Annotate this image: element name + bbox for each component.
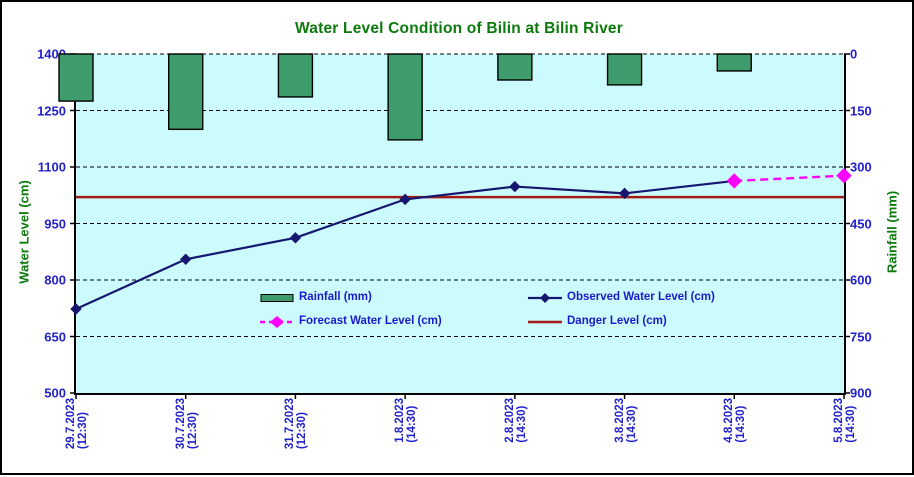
x-tick-time: (14:30) [735, 398, 747, 443]
y-axis-left-ticks: 140012501100950800650500 [2, 2, 66, 477]
x-tick-time: (14:30) [626, 398, 638, 443]
rainfall-bar-0[interactable] [59, 54, 93, 101]
observed-to-forecast-connector [625, 181, 735, 193]
x-tick-time: (12:30) [77, 398, 89, 449]
x-tick-time: (12:30) [296, 398, 308, 449]
observed-point-1[interactable] [181, 254, 191, 264]
rainfall-bar-4[interactable] [498, 54, 532, 80]
observed-point-0[interactable] [71, 304, 81, 314]
rainfall-bar-2[interactable] [278, 54, 312, 97]
y-tick-left-1100: 1100 [38, 160, 66, 175]
forecast-point-0[interactable] [727, 174, 741, 188]
x-tick-time: (14:30) [845, 398, 857, 443]
y-tick-right-300: 300 [850, 160, 872, 175]
x-tick-date: 29.7.2023 [65, 398, 77, 449]
y-tick-left-950: 950 [44, 216, 66, 231]
y-tick-left-800: 800 [44, 273, 66, 288]
x-tick-label-4: 2.8.2023(14:30) [504, 398, 522, 474]
legend-key-line-diamond-icon [528, 292, 562, 302]
y-tick-right-600: 600 [850, 273, 872, 288]
x-tick-label-7: 5.8.2023(14:30) [833, 398, 851, 474]
y-tick-left-500: 500 [44, 386, 66, 401]
x-tick-label-3: 1.8.2023(14:30) [394, 398, 412, 474]
y-tick-right-750: 750 [850, 329, 872, 344]
y-axis-right-title: Rainfall (mm) [882, 142, 902, 322]
observed-point-4[interactable] [510, 182, 520, 192]
plot-area [74, 54, 846, 395]
legend-item-1[interactable]: Observed Water Level (cm) [528, 291, 715, 303]
forecast-point-1[interactable] [837, 169, 851, 183]
legend-label-0: Rainfall (mm) [299, 291, 372, 303]
legend-label-2: Forecast Water Level (cm) [299, 315, 442, 327]
y-tick-left-1250: 1250 [37, 103, 66, 118]
x-tick-date: 31.7.2023 [284, 398, 296, 449]
legend-label-1: Observed Water Level (cm) [567, 291, 715, 303]
x-tick-date: 4.8.2023 [723, 398, 735, 443]
chart-frame: Water Level Condition of Bilin at Bilin … [0, 0, 914, 475]
x-tick-label-6: 4.8.2023(14:30) [723, 398, 741, 474]
forecast-water-level-line [734, 176, 844, 181]
y-axis-left-title-label: Water Level (cm) [17, 180, 32, 284]
rainfall-bar-5[interactable] [608, 54, 642, 85]
plot-svg [76, 54, 844, 393]
legend-item-3[interactable]: Danger Level (cm) [528, 315, 667, 327]
y-tick-right-0: 0 [850, 47, 857, 62]
legend-label-3: Danger Level (cm) [567, 315, 667, 327]
x-tick-date: 1.8.2023 [394, 398, 406, 443]
x-tick-label-1: 30.7.2023(12:30) [175, 398, 193, 474]
x-tick-date: 2.8.2023 [504, 398, 516, 443]
x-tick-label-0: 29.7.2023(12:30) [65, 398, 83, 474]
page-title: Water Level Condition of Bilin at Bilin … [2, 20, 914, 38]
x-tick-label-2: 31.7.2023(12:30) [284, 398, 302, 474]
rainfall-bar-6[interactable] [717, 54, 751, 71]
rainfall-bar-3[interactable] [388, 54, 422, 140]
y-tick-right-150: 150 [850, 103, 872, 118]
x-tick-date: 3.8.2023 [614, 398, 626, 443]
x-tick-time: (14:30) [406, 398, 418, 443]
legend-key-dashed-diamond-icon [260, 316, 294, 326]
y-tick-right-450: 450 [850, 216, 872, 231]
legend-key-bar-icon [260, 292, 294, 302]
chart-legend: Rainfall (mm)Observed Water Level (cm)Fo… [260, 291, 690, 337]
y-axis-left-title: Water Level (cm) [14, 142, 34, 322]
x-tick-date: 5.8.2023 [833, 398, 845, 443]
x-tick-date: 30.7.2023 [175, 398, 187, 449]
x-tick-time: (14:30) [516, 398, 528, 443]
legend-item-0[interactable]: Rainfall (mm) [260, 291, 372, 303]
y-axis-right-title-label: Rainfall (mm) [885, 191, 900, 273]
x-tick-time: (12:30) [187, 398, 199, 449]
x-tick-label-5: 3.8.2023(14:30) [614, 398, 632, 474]
y-tick-left-650: 650 [44, 329, 66, 344]
observed-point-2[interactable] [290, 233, 300, 243]
legend-key-line-icon [528, 316, 562, 326]
observed-point-3[interactable] [400, 194, 410, 204]
rainfall-bar-1[interactable] [169, 54, 203, 129]
legend-item-2[interactable]: Forecast Water Level (cm) [260, 315, 442, 327]
